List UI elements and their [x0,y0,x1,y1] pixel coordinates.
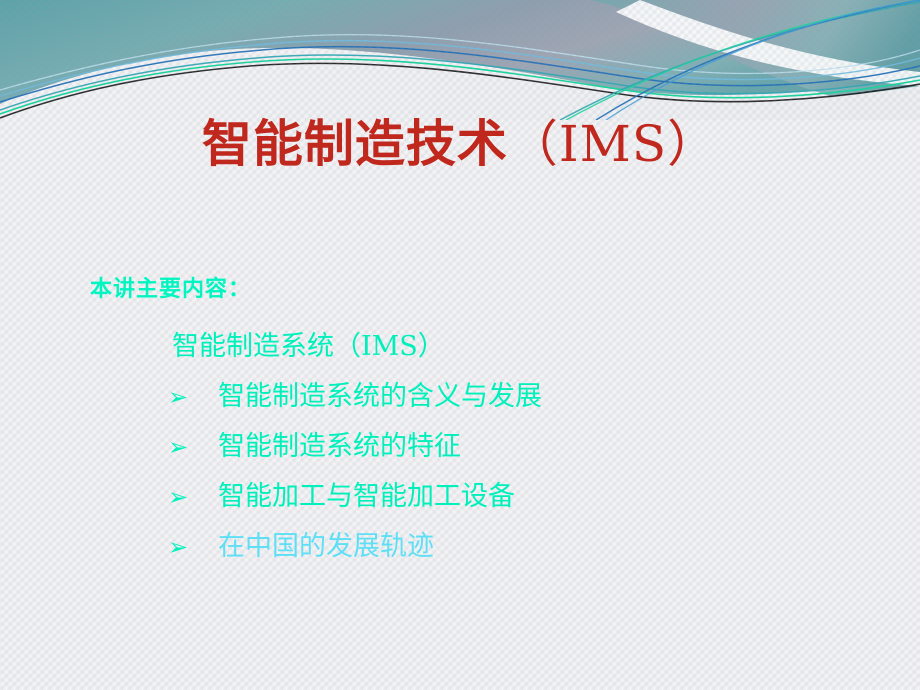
outline-item: ➢ 智能加工与智能加工设备 [168,472,868,522]
slide-title-latin: （IMS） [508,115,718,173]
outline-item: ➢ 智能制造系统的特征 [168,422,868,472]
outline-item-label: 智能制造系统（IMS） [172,322,445,372]
outline-item-label: 在中国的发展轨迹 [218,522,434,572]
bullet-arrow-icon: ➢ [168,422,218,472]
outline-list: 智能制造系统（IMS） ➢ 智能制造系统的含义与发展 ➢ 智能制造系统的特征 ➢… [168,322,868,572]
outline-item-label: 智能制造系统的特征 [218,422,461,472]
bullet-arrow-icon: ➢ [168,472,218,522]
intro-label: 本讲主要内容： [90,276,251,304]
presentation-slide: 智能制造技术（IMS） 本讲主要内容： 智能制造系统（IMS） ➢ 智能制造系统… [0,0,920,690]
outline-item: ➢ 在中国的发展轨迹 [168,522,868,572]
slide-content: 智能制造技术（IMS） 本讲主要内容： 智能制造系统（IMS） ➢ 智能制造系统… [0,0,920,690]
outline-item-label: 智能制造系统的含义与发展 [218,372,542,422]
bullet-arrow-icon: ➢ [168,522,218,572]
outline-item-label: 智能加工与智能加工设备 [218,472,515,522]
bullet-arrow-icon: ➢ [168,372,218,422]
slide-title-cjk: 智能制造技术 [202,114,508,173]
outline-item: 智能制造系统（IMS） [168,322,868,372]
outline-item: ➢ 智能制造系统的含义与发展 [168,372,868,422]
slide-title: 智能制造技术（IMS） [0,112,920,176]
